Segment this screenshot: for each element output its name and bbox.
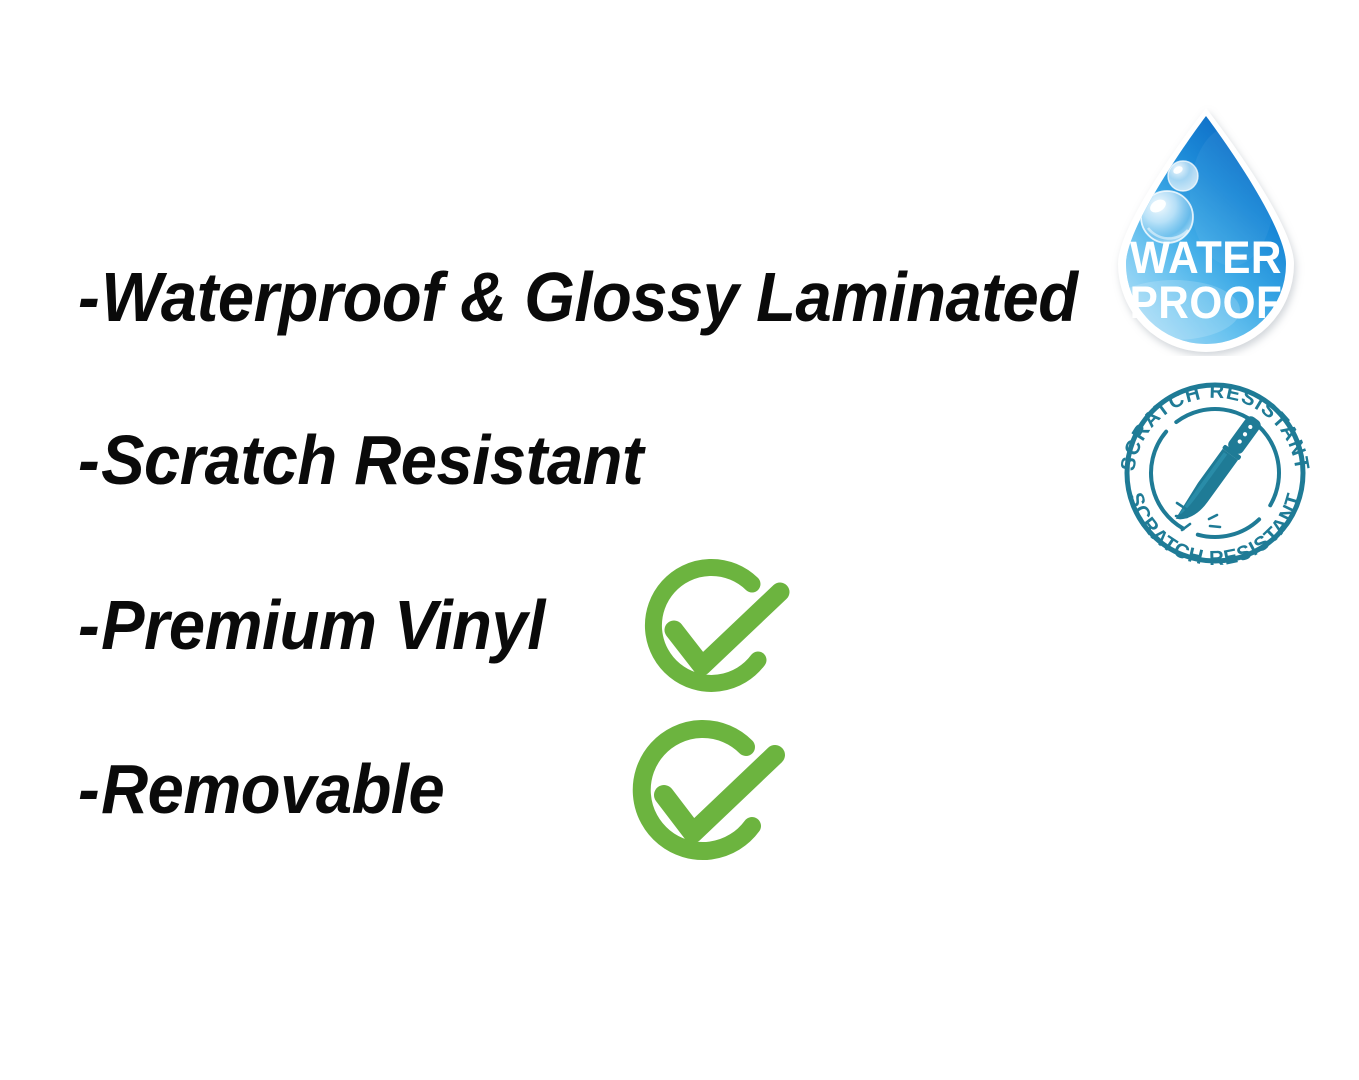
waterproof-line-2: PROOF <box>1130 278 1283 328</box>
feature-list: -Waterproof & Glossy Laminated -Scratch … <box>0 0 1100 1080</box>
waterproof-line-1: WATER <box>1130 233 1282 283</box>
feature-label-2: Scratch Resistant <box>101 421 643 499</box>
feature-label-1: Waterproof & Glossy Laminated <box>101 258 1077 336</box>
feature-list-item-1: -Waterproof & Glossy Laminated <box>78 258 1078 336</box>
bullet-dash-4: - <box>78 750 99 828</box>
bullet-dash-3: - <box>78 586 99 664</box>
feature-label-3: Premium Vinyl <box>101 586 545 664</box>
feature-list-item-4: -Removable <box>78 750 444 828</box>
check-mark-removable <box>628 718 788 880</box>
bullet-dash-2: - <box>78 421 99 499</box>
feature-list-item-3: -Premium Vinyl <box>78 586 545 664</box>
feature-label-4: Removable <box>101 750 444 828</box>
stamp-text-top: SCRATCH RESISTANT <box>1116 381 1313 473</box>
bullet-dash-1: - <box>78 258 99 336</box>
feature-highlight-graphic: -Waterproof & Glossy Laminated -Scratch … <box>0 0 1359 1080</box>
scratch-resistant-stamp-badge: SCRATCH RESISTANT SCRATCH RESISTANT <box>1114 381 1316 565</box>
waterproof-droplet-badge: WATER PROOF <box>1104 104 1308 356</box>
knife-icon <box>1172 413 1264 530</box>
water-bubble-small <box>1168 161 1198 191</box>
check-mark-premium-vinyl <box>640 556 792 712</box>
feature-list-item-2: -Scratch Resistant <box>78 421 643 499</box>
